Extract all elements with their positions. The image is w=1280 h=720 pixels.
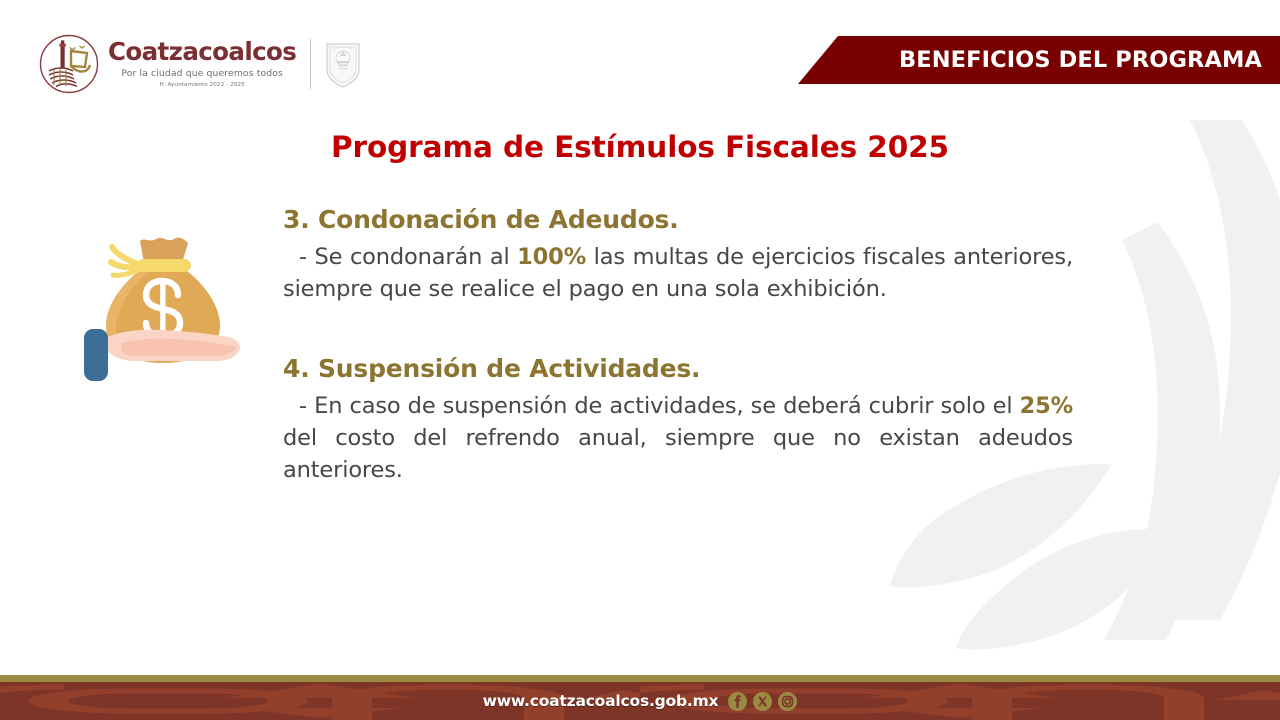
section-paragraph: - Se condonarán al 100% las multas de ej… <box>283 242 1073 306</box>
footer-content: www.coatzacoalcos.gob.mx <box>0 682 1280 720</box>
hand-holding-money-bag-icon <box>78 219 248 384</box>
footer-gold-stripe <box>0 675 1280 682</box>
coatzacoalcos-city-seal-icon <box>38 33 100 95</box>
social-links <box>728 692 797 711</box>
brand-tagline: Por la ciudad que queremos todos <box>121 68 283 79</box>
brand-logo-text: Coatzacoalcos Por la ciudad que queremos… <box>108 40 296 89</box>
slide-footer: www.coatzacoalcos.gob.mx <box>0 675 1280 720</box>
section-condonacion-de-adeudos: 3. Condonación de Adeudos. - Se condonar… <box>283 205 1073 306</box>
section-paragraph: - En caso de suspensión de actividades, … <box>283 391 1073 487</box>
veracruz-coat-of-arms-icon <box>324 40 362 88</box>
logo-divider <box>310 39 311 89</box>
slide-body: 3. Condonación de Adeudos. - Se condonar… <box>0 205 1280 625</box>
content-column: 3. Condonación de Adeudos. - Se condonar… <box>283 205 1073 487</box>
section-suspension-de-actividades: 4. Suspensión de Actividades. - En caso … <box>283 354 1073 487</box>
facebook-icon[interactable] <box>728 692 747 711</box>
section-banner-label: BENEFICIOS DEL PROGRAMA <box>899 47 1280 73</box>
section-banner: BENEFICIOS DEL PROGRAMA <box>798 36 1280 84</box>
section-spacer <box>283 306 1073 354</box>
section-heading: 3. Condonación de Adeudos. <box>283 205 1073 234</box>
slide-canvas: Coatzacoalcos Por la ciudad que queremos… <box>0 0 1280 720</box>
instagram-icon[interactable] <box>778 692 797 711</box>
x-twitter-icon[interactable] <box>753 692 772 711</box>
brand-administration: H. Ayuntamiento 2022 - 2025 <box>160 82 245 88</box>
section-heading: 4. Suspensión de Actividades. <box>283 354 1073 383</box>
page-title: Programa de Estímulos Fiscales 2025 <box>0 130 1280 164</box>
footer-website-url[interactable]: www.coatzacoalcos.gob.mx <box>483 692 719 710</box>
slide-header: Coatzacoalcos Por la ciudad que queremos… <box>0 0 1280 112</box>
brand-logo: Coatzacoalcos Por la ciudad que queremos… <box>38 33 362 95</box>
brand-title: Coatzacoalcos <box>108 40 296 65</box>
